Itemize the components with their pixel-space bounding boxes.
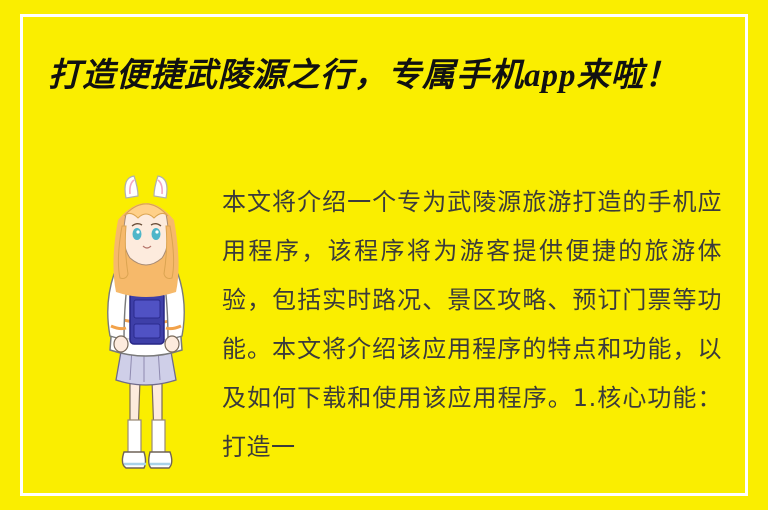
article-card: 打造便捷武陵源之行，专属手机app来啦！ <box>0 0 768 510</box>
article-body: 本文将介绍一个专为武陵源旅游打造的手机应用程序，该程序将为游客提供便捷的旅游体验… <box>222 178 722 478</box>
anime-girl-with-backpack-illustration <box>86 168 206 478</box>
page-title: 打造便捷武陵源之行，专属手机app来啦！ <box>48 52 738 100</box>
